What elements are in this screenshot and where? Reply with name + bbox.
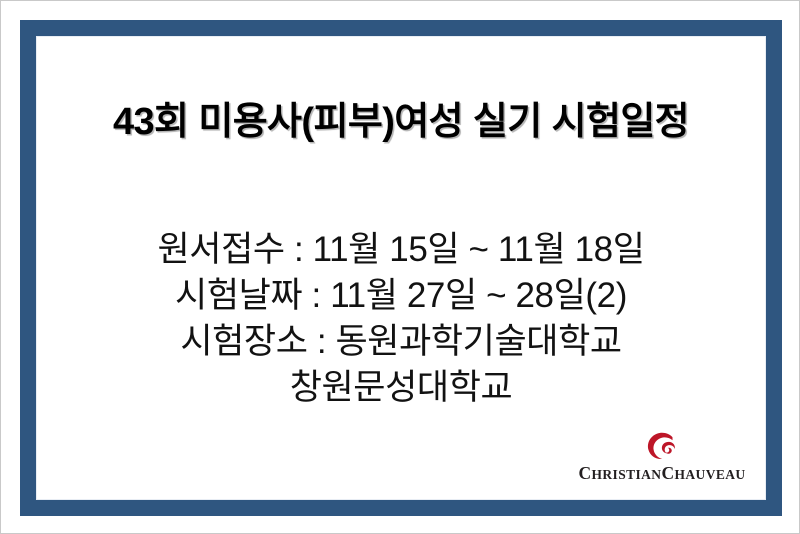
- schedule-line-exam-date: 시험날짜 : 11월 27일 ~ 28일(2): [36, 273, 766, 319]
- exam-schedule-details: 원서접수 : 11월 15일 ~ 11월 18일 시험날짜 : 11월 27일 …: [36, 227, 766, 411]
- brand-logo: CHRISTIANCHAUVEAU: [562, 431, 762, 482]
- wordmark-initial-christian: C: [578, 463, 591, 483]
- wordmark-rest-chauveau: HAUVEAU: [675, 467, 746, 482]
- schedule-line-exam-venue-secondary: 창원문성대학교: [36, 365, 766, 411]
- brand-wordmark: CHRISTIANCHAUVEAU: [562, 466, 762, 482]
- slide-content-area: 43회 미용사(피부)여성 실기 시험일정 원서접수 : 11월 15일 ~ 1…: [36, 36, 766, 500]
- wordmark-initial-chauveau: C: [661, 463, 674, 483]
- slide-canvas: 43회 미용사(피부)여성 실기 시험일정 원서접수 : 11월 15일 ~ 1…: [0, 0, 800, 534]
- schedule-line-exam-venue: 시험장소 : 동원과학기술대학교: [36, 319, 766, 365]
- red-spiral-swirl-icon: [642, 431, 682, 465]
- page-title: 43회 미용사(피부)여성 실기 시험일정: [36, 99, 766, 145]
- wordmark-rest-christian: HRISTIAN: [591, 467, 661, 482]
- schedule-line-application-period: 원서접수 : 11월 15일 ~ 11월 18일: [36, 227, 766, 273]
